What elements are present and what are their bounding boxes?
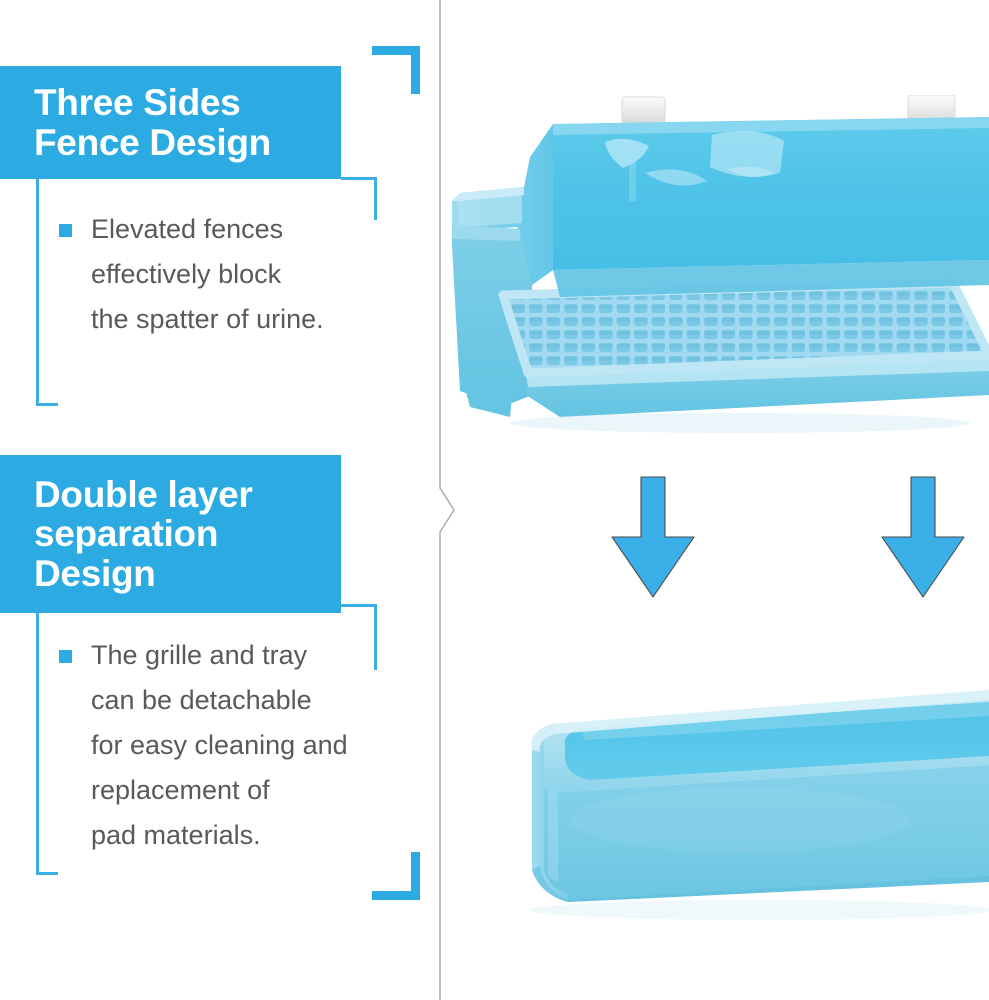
connector-line-right-horizontal (341, 177, 377, 180)
feature-body-line: Elevated fences (59, 207, 324, 252)
bracket-vertical-arm (411, 852, 420, 900)
feature-body-text: The grille and tray (91, 633, 307, 678)
feature-body-line: for easy cleaning and (59, 723, 348, 768)
feature-title-line: Three Sides (34, 83, 341, 122)
feature-body-double-layer-separation-design: The grille and tray can be detachable fo… (59, 633, 348, 858)
connector-line-right-vertical (374, 604, 377, 670)
down-arrow-icon (878, 475, 968, 600)
connector-line-right-vertical (374, 177, 377, 220)
feature-body-line: The grille and tray (59, 633, 348, 678)
infographic-page: Three Sides Fence Design Elevated fences… (0, 0, 989, 1000)
square-bullet-icon (59, 224, 72, 237)
feature-body-three-sides-fence-design: Elevated fences effectively block the sp… (59, 207, 324, 342)
square-bullet-icon (59, 650, 72, 663)
feature-body-line: the spatter of urine. (59, 297, 324, 342)
pet-potty-base-tray-photo (440, 670, 989, 955)
feature-body-line: effectively block (59, 252, 324, 297)
feature-body-line: can be detachable (59, 678, 348, 723)
connector-line-left-vertical (36, 179, 39, 406)
connector-line-left-vertical (36, 613, 39, 875)
feature-body-line: pad materials. (59, 813, 348, 858)
feature-body-line: replacement of (59, 768, 348, 813)
feature-body-text: Elevated fences (91, 207, 283, 252)
feature-title-line: Design (34, 554, 341, 593)
feature-title-three-sides-fence-design: Three Sides Fence Design (0, 66, 341, 179)
connector-line-left-foot (36, 872, 58, 875)
corner-bracket-top-right-icon (372, 46, 420, 94)
feature-title-line: Double layer (34, 475, 341, 514)
features-panel: Three Sides Fence Design Elevated fences… (0, 0, 440, 1000)
feature-title-line: Fence Design (34, 123, 341, 162)
feature-title-line: separation (34, 514, 341, 553)
connector-line-left-foot (36, 403, 58, 406)
product-photo-panel (440, 0, 989, 1000)
pet-potty-with-grille-photo (440, 95, 989, 445)
down-arrow-icon (608, 475, 698, 600)
connector-line-right-horizontal (341, 604, 377, 607)
bracket-vertical-arm (411, 46, 420, 94)
corner-bracket-bottom-right-icon (372, 852, 420, 900)
feature-title-double-layer-separation-design: Double layer separation Design (0, 455, 341, 613)
